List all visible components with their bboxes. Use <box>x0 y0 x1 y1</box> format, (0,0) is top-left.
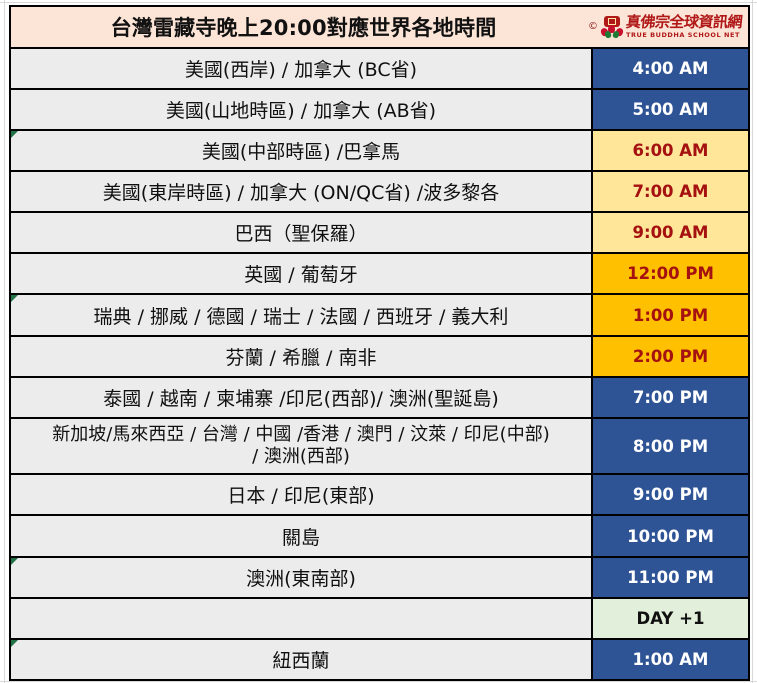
region-label: 芬蘭 / 希臘 / 南非 <box>226 347 377 369</box>
header-cell: 台灣雷藏寺晚上20:00對應世界各地時間 © 真佛宗全球資訊網 TRUE BUD… <box>10 6 749 48</box>
region-cell[interactable]: 關島 <box>10 515 592 556</box>
region-cell[interactable]: 泰國 / 越南 / 柬埔寨 /印尼(西部)/ 澳洲(聖誕島) <box>10 377 592 418</box>
region-label: 美國(西岸) / 加拿大 (BC省) <box>185 59 417 81</box>
time-cell[interactable]: 12:00 PM <box>592 253 749 294</box>
table-body: 台灣雷藏寺晚上20:00對應世界各地時間 © 真佛宗全球資訊網 TRUE BUD… <box>10 6 749 680</box>
table-row: 美國(東岸時區) / 加拿大 (ON/QC省) /波多黎各7:00 AM <box>10 171 749 212</box>
table-row: 巴西（聖保羅）9:00 AM <box>10 212 749 253</box>
region-label: 巴西（聖保羅） <box>234 223 367 245</box>
table-row: 紐西蘭1:00 AM <box>10 639 749 680</box>
time-cell[interactable]: 9:00 PM <box>592 474 749 515</box>
time-cell[interactable]: 8:00 PM <box>592 418 749 475</box>
comment-marker-icon <box>11 640 18 647</box>
grid-line <box>0 681 757 682</box>
logo-name-en: TRUE BUDDHA SCHOOL NET <box>626 32 742 39</box>
table-row: 芬蘭 / 希臘 / 南非2:00 PM <box>10 336 749 377</box>
table-row: 新加坡/馬來西亞 / 台灣 / 中國 /香港 / 澳門 / 汶萊 / 印尼(中部… <box>10 418 749 475</box>
region-cell[interactable]: 美國(東岸時區) / 加拿大 (ON/QC省) /波多黎各 <box>10 171 592 212</box>
table-row: 英國 / 葡萄牙12:00 PM <box>10 253 749 294</box>
region-cell[interactable]: 瑞典 / 挪威 / 德國 / 瑞士 / 法國 / 西班牙 / 義大利 <box>10 294 592 335</box>
table-row: 美國(中部時區) /巴拿馬6:00 AM <box>10 130 749 171</box>
comment-marker-icon <box>11 131 18 138</box>
table-row: 澳洲(東南部)11:00 PM <box>10 557 749 598</box>
region-label: 美國(中部時區) /巴拿馬 <box>202 141 400 163</box>
time-cell[interactable]: 6:00 AM <box>592 130 749 171</box>
table-row: 關島10:00 PM <box>10 515 749 556</box>
table-header-row: 台灣雷藏寺晚上20:00對應世界各地時間 © 真佛宗全球資訊網 TRUE BUD… <box>10 6 749 48</box>
lotus-seal-icon <box>601 16 623 38</box>
time-cell[interactable]: DAY +1 <box>592 598 749 639</box>
time-cell[interactable]: 1:00 AM <box>592 639 749 680</box>
region-cell[interactable]: 日本 / 印尼(東部) <box>10 474 592 515</box>
table-row: 美國(山地時區) / 加拿大 (AB省)5:00 AM <box>10 89 749 130</box>
region-label: 日本 / 印尼(東部) <box>227 485 374 507</box>
region-cell[interactable]: 巴西（聖保羅） <box>10 212 592 253</box>
time-cell[interactable]: 9:00 AM <box>592 212 749 253</box>
region-label: 新加坡/馬來西亞 / 台灣 / 中國 /香港 / 澳門 / 汶萊 / 印尼(中部… <box>52 424 549 467</box>
region-label: 瑞典 / 挪威 / 德國 / 瑞士 / 法國 / 西班牙 / 義大利 <box>94 306 509 328</box>
region-label: 英國 / 葡萄牙 <box>244 264 357 286</box>
comment-marker-icon <box>11 558 18 565</box>
comment-marker-icon <box>11 295 18 302</box>
grid-line <box>4 0 5 683</box>
table-row: 美國(西岸) / 加拿大 (BC省)4:00 AM <box>10 48 749 89</box>
region-cell[interactable]: 芬蘭 / 希臘 / 南非 <box>10 336 592 377</box>
region-label: 紐西蘭 <box>272 650 329 672</box>
region-cell[interactable]: 紐西蘭 <box>10 639 592 680</box>
grid-line <box>752 0 753 683</box>
grid-line <box>0 2 757 3</box>
table-row: 瑞典 / 挪威 / 德國 / 瑞士 / 法國 / 西班牙 / 義大利1:00 P… <box>10 294 749 335</box>
time-cell[interactable]: 1:00 PM <box>592 294 749 335</box>
time-cell[interactable]: 5:00 AM <box>592 89 749 130</box>
region-cell[interactable]: 澳洲(東南部) <box>10 557 592 598</box>
time-cell[interactable]: 10:00 PM <box>592 515 749 556</box>
spreadsheet-canvas: 台灣雷藏寺晚上20:00對應世界各地時間 © 真佛宗全球資訊網 TRUE BUD… <box>0 0 757 683</box>
region-cell[interactable]: 英國 / 葡萄牙 <box>10 253 592 294</box>
region-cell[interactable] <box>10 598 592 639</box>
region-cell[interactable]: 美國(中部時區) /巴拿馬 <box>10 130 592 171</box>
region-label: 美國(東岸時區) / 加拿大 (ON/QC省) /波多黎各 <box>103 182 499 204</box>
region-cell[interactable]: 新加坡/馬來西亞 / 台灣 / 中國 /香港 / 澳門 / 汶萊 / 印尼(中部… <box>10 418 592 475</box>
region-label: 美國(山地時區) / 加拿大 (AB省) <box>166 100 436 122</box>
region-label: 澳洲(東南部) <box>246 568 356 590</box>
time-cell[interactable]: 7:00 AM <box>592 171 749 212</box>
world-time-table: 台灣雷藏寺晚上20:00對應世界各地時間 © 真佛宗全球資訊網 TRUE BUD… <box>9 5 750 681</box>
time-cell[interactable]: 4:00 AM <box>592 48 749 89</box>
table-row: 日本 / 印尼(東部)9:00 PM <box>10 474 749 515</box>
region-cell[interactable]: 美國(西岸) / 加拿大 (BC省) <box>10 48 592 89</box>
page-title: 台灣雷藏寺晚上20:00對應世界各地時間 <box>11 12 588 42</box>
copyright-icon: © <box>588 22 598 32</box>
logo-name-cn: 真佛宗全球資訊網 <box>625 15 743 30</box>
region-cell[interactable]: 美國(山地時區) / 加拿大 (AB省) <box>10 89 592 130</box>
table-row: DAY +1 <box>10 598 749 639</box>
region-label: 關島 <box>282 527 320 549</box>
region-label: 泰國 / 越南 / 柬埔寨 /印尼(西部)/ 澳洲(聖誕島) <box>103 388 499 410</box>
time-cell[interactable]: 2:00 PM <box>592 336 749 377</box>
time-cell[interactable]: 11:00 PM <box>592 557 749 598</box>
table-row: 泰國 / 越南 / 柬埔寨 /印尼(西部)/ 澳洲(聖誕島)7:00 PM <box>10 377 749 418</box>
time-cell[interactable]: 7:00 PM <box>592 377 749 418</box>
brand-logo: © 真佛宗全球資訊網 TRUE BUDDHA SCHOOL NET <box>588 15 748 39</box>
